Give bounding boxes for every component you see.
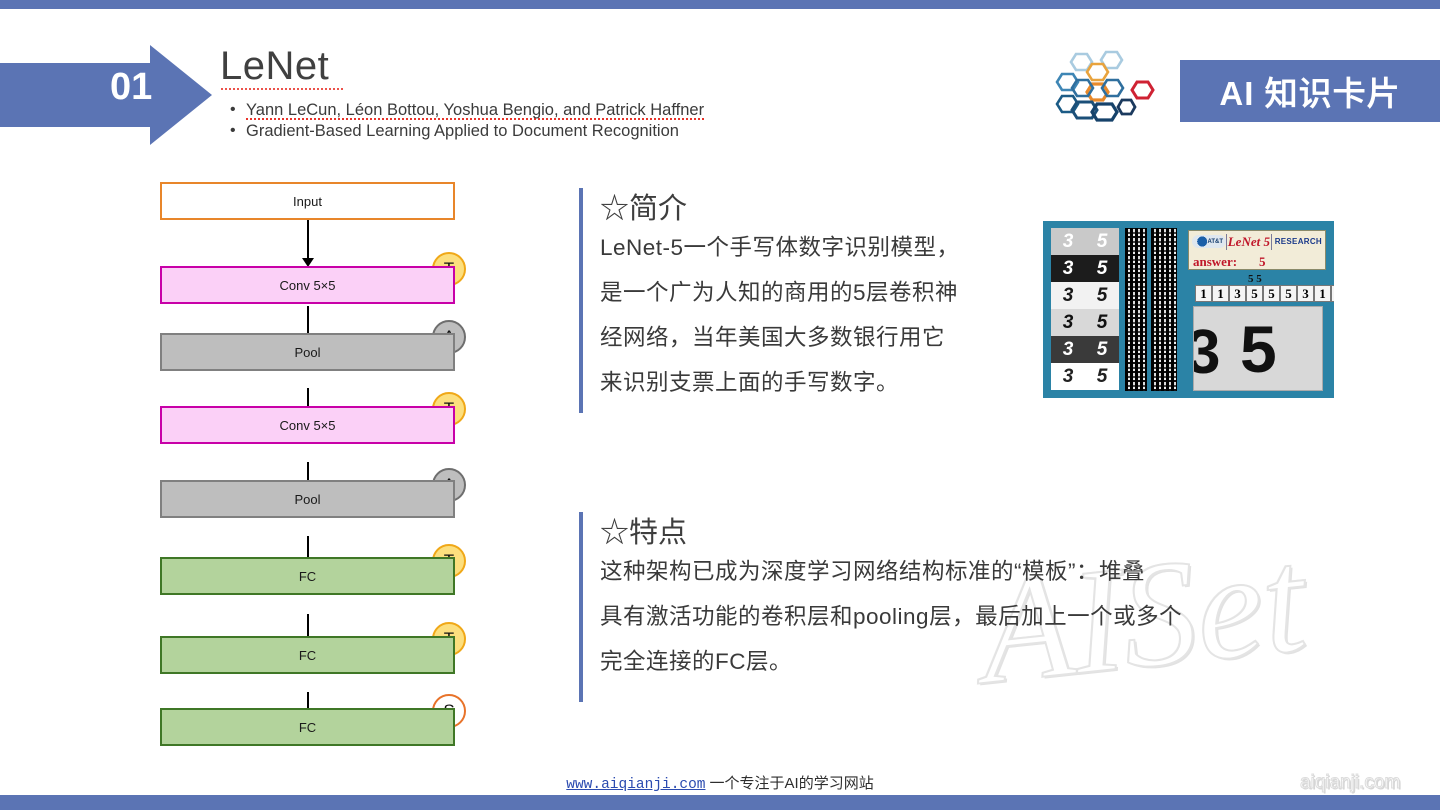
- top-accent-bar: [0, 0, 1440, 9]
- demo-large-digit-panel: 3 5: [1193, 306, 1323, 391]
- header-bullet-text: Yann LeCun, Léon Bottou, Yoshua Bengio, …: [246, 101, 704, 122]
- section-heading-features: ☆特点: [600, 509, 687, 551]
- demo-answer-value: 5: [1255, 254, 1266, 270]
- section-line: 来识别支票上面的手写数字。: [600, 360, 960, 405]
- demo-digit-cell: 3: [1229, 285, 1246, 302]
- layer-box-conv-2[interactable]: Conv 5×5: [160, 406, 455, 444]
- ai-knowledge-card-banner: AI 知识卡片: [1180, 60, 1440, 122]
- demo-research-label: RESEARCH: [1272, 237, 1325, 246]
- section-number-arrow: [0, 45, 212, 145]
- bottom-accent-bar: [0, 795, 1440, 810]
- layer-box-conv-1[interactable]: Conv 5×5: [160, 266, 455, 304]
- demo-digit-sequence: 1 1 3 5 5 5 3 1 1: [1195, 285, 1334, 302]
- footer: www.aiqianji.com一个专注于AI的学习网站: [0, 772, 1440, 793]
- title-spellcheck-underline: [221, 88, 343, 90]
- section-body-features: 这种架构已成为深度学习网络结构标准的“模板”：堆叠 具有激活功能的卷积层和poo…: [600, 549, 1182, 684]
- page-title: LeNet: [220, 44, 329, 90]
- demo-partial-digit: 3: [1193, 317, 1220, 388]
- hexagon-network-logo: [1040, 50, 1180, 135]
- att-logo-icon: AT&T: [1192, 235, 1226, 248]
- layer-box-fc-3[interactable]: FC: [160, 708, 455, 746]
- demo-digit-cell: 5: [1263, 285, 1280, 302]
- lenet-architecture-flow: T A T A T T S Input Conv 5×5 Pool Conv 5…: [160, 180, 470, 750]
- demo-digit-cell: 1: [1331, 285, 1334, 302]
- section-rule-features: [579, 512, 583, 702]
- demo-digit-cell: 3: [1297, 285, 1314, 302]
- layer-box-input[interactable]: Input: [160, 182, 455, 220]
- section-line: 是一个广为人知的商用的5层卷积神: [600, 270, 960, 315]
- section-line: 具有激活功能的卷积层和pooling层，最后加上一个或多个: [600, 594, 1182, 639]
- demo-feature-map-column-1: [1125, 228, 1147, 391]
- demo-title-label: LeNet 5: [1226, 234, 1272, 250]
- lenet5-handwritten-digit-demo: 35 35 35 35 35 35 AT&T LeNet 5 RESEARCH …: [1043, 221, 1334, 398]
- header-bullet-text: Gradient-Based Learning Applied to Docum…: [246, 122, 679, 140]
- connector-line: [307, 220, 309, 262]
- demo-title-panel: AT&T LeNet 5 RESEARCH answer: 5: [1188, 230, 1326, 270]
- demo-digit-cell: 1: [1314, 285, 1331, 302]
- demo-big-digit: 5: [1240, 311, 1277, 387]
- demo-digit-cell: 5: [1246, 285, 1263, 302]
- demo-digit-cell: 1: [1212, 285, 1229, 302]
- header-bullet-item: Gradient-Based Learning Applied to Docum…: [228, 121, 704, 142]
- layer-box-fc-2[interactable]: FC: [160, 636, 455, 674]
- section-rule-intro: [579, 188, 583, 413]
- slide-root: 01 LeNet Yann LeCun, Léon Bottou, Yoshua…: [0, 0, 1440, 810]
- layer-box-pool-1[interactable]: Pool: [160, 333, 455, 371]
- demo-feature-map-column-2: [1151, 228, 1177, 391]
- section-line: LeNet-5一个手写体数字识别模型，: [600, 225, 960, 270]
- watermark-corner: aiqianji.com: [1300, 772, 1400, 794]
- section-body-intro: LeNet-5一个手写体数字识别模型， 是一个广为人知的商用的5层卷积神 经网络…: [600, 225, 960, 405]
- demo-mini-label: 5 5: [1248, 273, 1262, 285]
- demo-digit-cell: 5: [1280, 285, 1297, 302]
- section-number-label: 01: [110, 66, 152, 109]
- footer-url-link[interactable]: www.aiqianji.com: [566, 777, 705, 793]
- section-line: 完全连接的FC层。: [600, 639, 1182, 684]
- demo-digit-pairs-column: 35 35 35 35 35 35: [1051, 228, 1119, 390]
- layer-box-fc-1[interactable]: FC: [160, 557, 455, 595]
- demo-digit-cell: 1: [1195, 285, 1212, 302]
- demo-answer-label: answer:: [1189, 254, 1237, 270]
- section-line: 经网络，当年美国大多数银行用它: [600, 315, 960, 360]
- footer-tagline: 一个专注于AI的学习网站: [710, 775, 874, 792]
- section-heading-intro: ☆简介: [600, 185, 687, 227]
- section-line: 这种架构已成为深度学习网络结构标准的“模板”：堆叠: [600, 549, 1182, 594]
- header-bullet-list: Yann LeCun, Léon Bottou, Yoshua Bengio, …: [228, 100, 704, 142]
- layer-box-pool-2[interactable]: Pool: [160, 480, 455, 518]
- header-bullet-item: Yann LeCun, Léon Bottou, Yoshua Bengio, …: [228, 100, 704, 121]
